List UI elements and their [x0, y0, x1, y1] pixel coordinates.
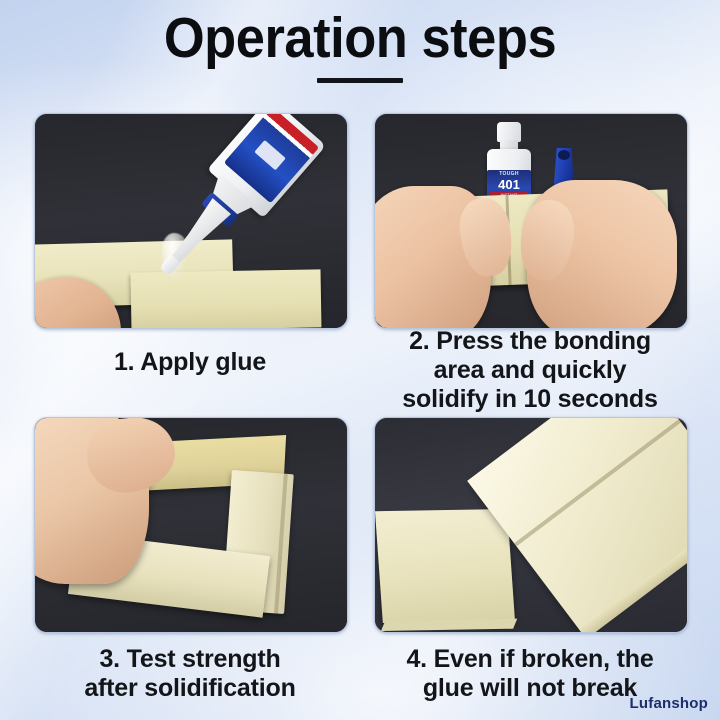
step-2-caption: 2. Press the bonding area and quickly so… — [370, 327, 690, 414]
label-number: 401 — [487, 178, 531, 191]
step-1-photo — [35, 114, 347, 328]
shop-watermark: Lufanshop — [630, 695, 708, 712]
step-4-photo — [375, 418, 687, 632]
step-3-caption: 3. Test strength after solidification — [30, 645, 350, 703]
title-block: Operation steps — [0, 6, 720, 83]
step-panel-4 — [374, 417, 688, 633]
step-panel-3 — [34, 417, 348, 633]
bottle-cap — [497, 122, 521, 142]
step-1-caption: 1. Apply glue — [34, 348, 346, 377]
page-title: Operation steps — [29, 6, 691, 70]
step-panel-1 — [34, 113, 348, 329]
promo-graphic: Operation steps 1. Apply glue — [0, 0, 720, 720]
broken-foam-piece-left — [375, 509, 515, 623]
step-3-photo — [35, 418, 347, 632]
glue-seam — [514, 419, 681, 546]
step-2-photo: TOUGH 401 INSTANT ADHESIVE QUICK DRYING … — [375, 114, 687, 328]
step-panel-2: TOUGH 401 INSTANT ADHESIVE QUICK DRYING … — [374, 113, 688, 329]
title-divider — [317, 78, 403, 83]
